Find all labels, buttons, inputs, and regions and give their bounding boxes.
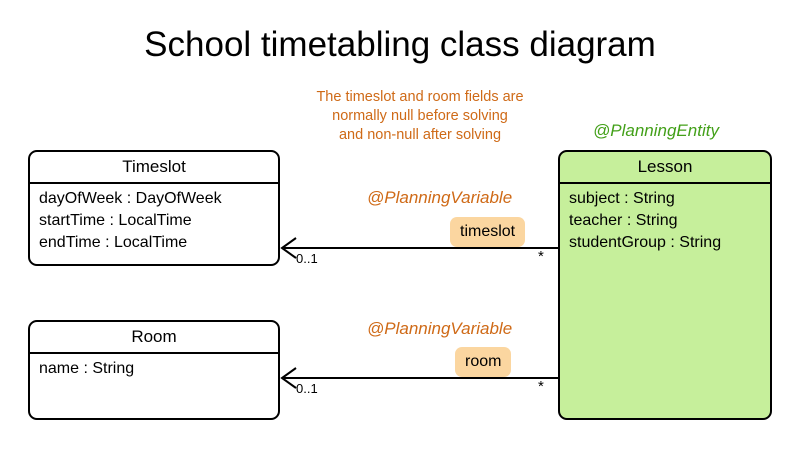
- class-box-timeslot[interactable]: Timeslot dayOfWeek : DayOfWeek startTime…: [28, 150, 280, 266]
- class-attributes-room: name : String: [30, 354, 278, 380]
- class-diagram-canvas: School timetabling class diagram The tim…: [0, 0, 800, 450]
- attribute-row: endTime : LocalTime: [39, 232, 278, 254]
- multiplicity-room-source: *: [538, 379, 544, 395]
- class-attributes-lesson: subject : String teacher : String studen…: [560, 184, 770, 254]
- attribute-row: dayOfWeek : DayOfWeek: [39, 188, 278, 210]
- multiplicity-timeslot-source: *: [538, 249, 544, 265]
- attribute-row: name : String: [39, 358, 278, 380]
- note-line-3: and non-null after solving: [270, 126, 570, 145]
- attribute-row: teacher : String: [569, 210, 770, 232]
- class-attributes-timeslot: dayOfWeek : DayOfWeek startTime : LocalT…: [30, 184, 278, 254]
- note-line-1: The timeslot and room fields are: [270, 88, 570, 107]
- stereotype-planning-variable-room: @PlanningVariable: [367, 318, 512, 339]
- class-name-timeslot: Timeslot: [30, 152, 278, 184]
- role-badge-timeslot[interactable]: timeslot: [450, 217, 525, 247]
- attribute-row: studentGroup : String: [569, 232, 770, 254]
- class-name-lesson: Lesson: [560, 152, 770, 184]
- note-line-2: normally null before solving: [270, 107, 570, 126]
- multiplicity-timeslot-target: 0..1: [296, 251, 318, 267]
- stereotype-planning-entity: @PlanningEntity: [593, 120, 719, 141]
- page-title: School timetabling class diagram: [0, 24, 800, 66]
- class-box-room[interactable]: Room name : String: [28, 320, 280, 420]
- stereotype-planning-variable-timeslot: @PlanningVariable: [367, 187, 512, 208]
- class-box-lesson[interactable]: Lesson subject : String teacher : String…: [558, 150, 772, 420]
- solver-note: The timeslot and room fields are normall…: [270, 88, 570, 145]
- attribute-row: startTime : LocalTime: [39, 210, 278, 232]
- role-badge-room[interactable]: room: [455, 347, 511, 377]
- multiplicity-room-target: 0..1: [296, 381, 318, 397]
- class-name-room: Room: [30, 322, 278, 354]
- attribute-row: subject : String: [569, 188, 770, 210]
